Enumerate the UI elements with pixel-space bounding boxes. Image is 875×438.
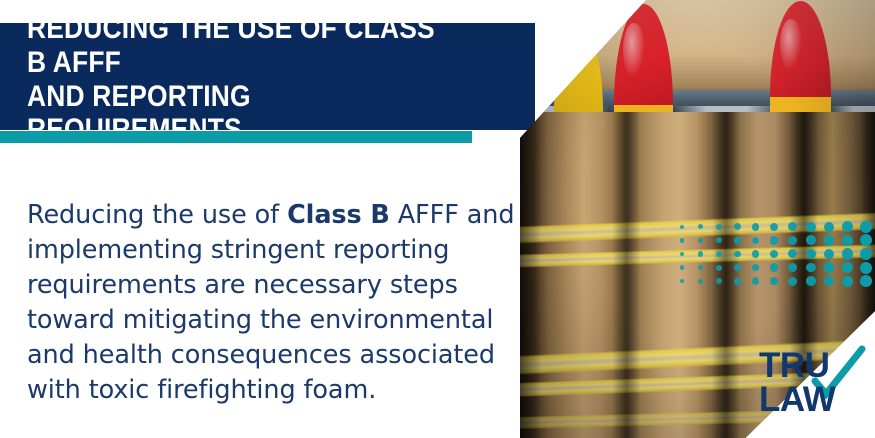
dot — [716, 265, 722, 271]
page-title: REDUCING THE USE OF CLASS B AFFF AND REP… — [27, 12, 448, 146]
dot — [698, 251, 703, 256]
dot — [824, 262, 835, 273]
dot — [698, 265, 703, 270]
dot — [788, 277, 797, 286]
body-text-after-bold: AFFF and implementing stringent reportin… — [27, 200, 514, 406]
dot — [680, 279, 685, 284]
dot — [824, 249, 835, 260]
dot — [842, 248, 853, 259]
dot — [770, 250, 778, 258]
dot — [860, 248, 872, 260]
dot — [770, 277, 778, 285]
title-banner: REDUCING THE USE OF CLASS B AFFF AND REP… — [0, 23, 535, 130]
dot — [842, 276, 853, 287]
dot — [770, 223, 778, 231]
logo-line-2: LAW — [759, 380, 836, 415]
dot — [752, 264, 760, 272]
dot — [752, 277, 760, 285]
dot — [806, 222, 816, 232]
dot — [860, 221, 872, 233]
dot — [860, 275, 872, 287]
body-paragraph: Reducing the use of Class B AFFF and imp… — [27, 198, 527, 409]
dot — [716, 237, 722, 243]
dot — [824, 222, 835, 233]
trulaw-logo[interactable]: TRU LAW — [757, 341, 869, 415]
dot — [824, 276, 835, 287]
dot — [842, 262, 853, 273]
dot — [806, 263, 816, 273]
dot — [698, 279, 703, 284]
dot — [680, 238, 685, 243]
accent-bar — [0, 131, 472, 143]
dot — [860, 234, 872, 246]
dot — [788, 263, 797, 272]
dot — [698, 224, 703, 229]
body-text-bold: Class B — [287, 200, 390, 230]
dot — [788, 249, 797, 258]
dot — [806, 276, 816, 286]
dot — [734, 251, 741, 258]
dot — [788, 236, 797, 245]
dot — [716, 224, 722, 230]
dot — [752, 250, 760, 258]
dot — [842, 221, 853, 232]
dot — [734, 264, 741, 271]
dot — [842, 235, 853, 246]
dot — [770, 236, 778, 244]
dot — [680, 265, 685, 270]
dot — [824, 235, 835, 246]
text-column: REDUCING THE USE OF CLASS B AFFF AND REP… — [0, 0, 560, 438]
dot — [680, 225, 685, 230]
dot — [734, 278, 741, 285]
dot — [752, 223, 760, 231]
dot — [734, 237, 741, 244]
dot — [680, 252, 685, 257]
dot — [806, 235, 816, 245]
dot — [716, 251, 722, 257]
dot — [806, 249, 816, 259]
dot — [770, 263, 778, 271]
dot — [860, 262, 872, 274]
dot — [698, 238, 703, 243]
dot — [716, 278, 722, 284]
dot — [734, 223, 741, 230]
dot — [752, 237, 760, 245]
dot-pattern-overlay — [673, 220, 875, 288]
body-text-before-bold: Reducing the use of — [27, 200, 287, 230]
dot — [788, 222, 797, 231]
promo-card: REDUCING THE USE OF CLASS B AFFF AND REP… — [0, 0, 875, 438]
